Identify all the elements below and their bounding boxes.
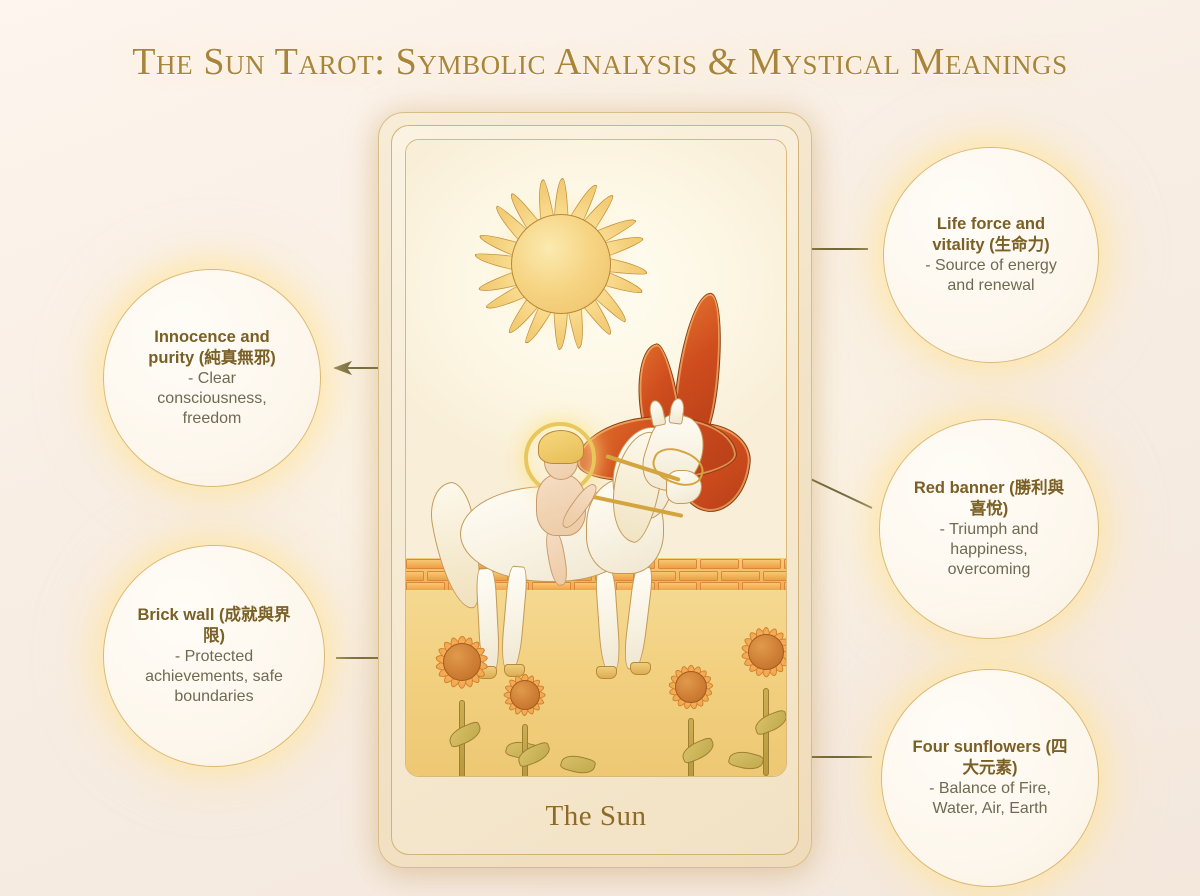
callout-title: Life force and vitality (生命力) <box>912 214 1070 256</box>
horse-hoof <box>630 662 651 675</box>
brick <box>406 571 424 581</box>
callout-description: - Clear consciousness, freedom <box>132 369 292 429</box>
infographic-canvas: The Sun Tarot: Symbolic Analysis & Mysti… <box>0 0 1200 896</box>
brick <box>784 559 787 569</box>
sunflower-head <box>724 610 787 694</box>
sunflower-head <box>490 660 560 730</box>
brick <box>742 559 781 569</box>
callout-innocence[interactable]: Innocence and purity (純真無邪) - Clear cons… <box>104 270 320 486</box>
callout-description: - Triumph and happiness, overcoming <box>908 520 1070 580</box>
callout-description: - Balance of Fire, Water, Air, Earth <box>910 779 1070 819</box>
callout-four-sunflowers[interactable]: Four sunflowers (四大元素) - Balance of Fire… <box>882 670 1098 886</box>
card-title: The Sun <box>379 800 813 833</box>
callout-description: - Protected achievements, safe boundarie… <box>132 647 296 707</box>
callout-life-force[interactable]: Life force and vitality (生命力) - Source o… <box>884 148 1098 362</box>
callout-title: Four sunflowers (四大元素) <box>910 737 1070 779</box>
card-artwork <box>405 139 787 777</box>
tarot-card[interactable]: The Sun <box>378 112 812 868</box>
callout-title: Red banner (勝利與喜悅) <box>908 478 1070 520</box>
callout-brick-wall[interactable]: Brick wall (成就與界限) - Protected achieveme… <box>104 546 324 766</box>
sunflower-leaf <box>752 709 787 737</box>
callout-title: Brick wall (成就與界限) <box>132 605 296 647</box>
sunflower-leaf <box>446 720 484 748</box>
sunflower-head <box>654 650 728 724</box>
callout-description: - Source of energy and renewal <box>912 256 1070 296</box>
sunflower <box>490 660 572 777</box>
page-title: The Sun Tarot: Symbolic Analysis & Mysti… <box>0 40 1200 84</box>
child-rider-illustration <box>514 424 624 584</box>
sunflower-disc <box>443 643 481 681</box>
callout-title: Innocence and purity (純真無邪) <box>132 327 292 369</box>
sunflower-disc <box>510 680 540 710</box>
brick <box>763 571 787 581</box>
horse-leg <box>622 565 655 671</box>
callout-red-banner[interactable]: Red banner (勝利與喜悅) - Triumph and happine… <box>880 420 1098 638</box>
sunflower-leaf <box>515 741 553 769</box>
sunflower-leaf <box>679 736 717 764</box>
child-hair <box>538 430 584 464</box>
sun-core <box>511 214 611 314</box>
sunflower <box>724 610 787 777</box>
sunflower-disc <box>675 671 707 703</box>
horse-hoof <box>596 666 617 679</box>
sunflower-disc <box>748 634 784 670</box>
